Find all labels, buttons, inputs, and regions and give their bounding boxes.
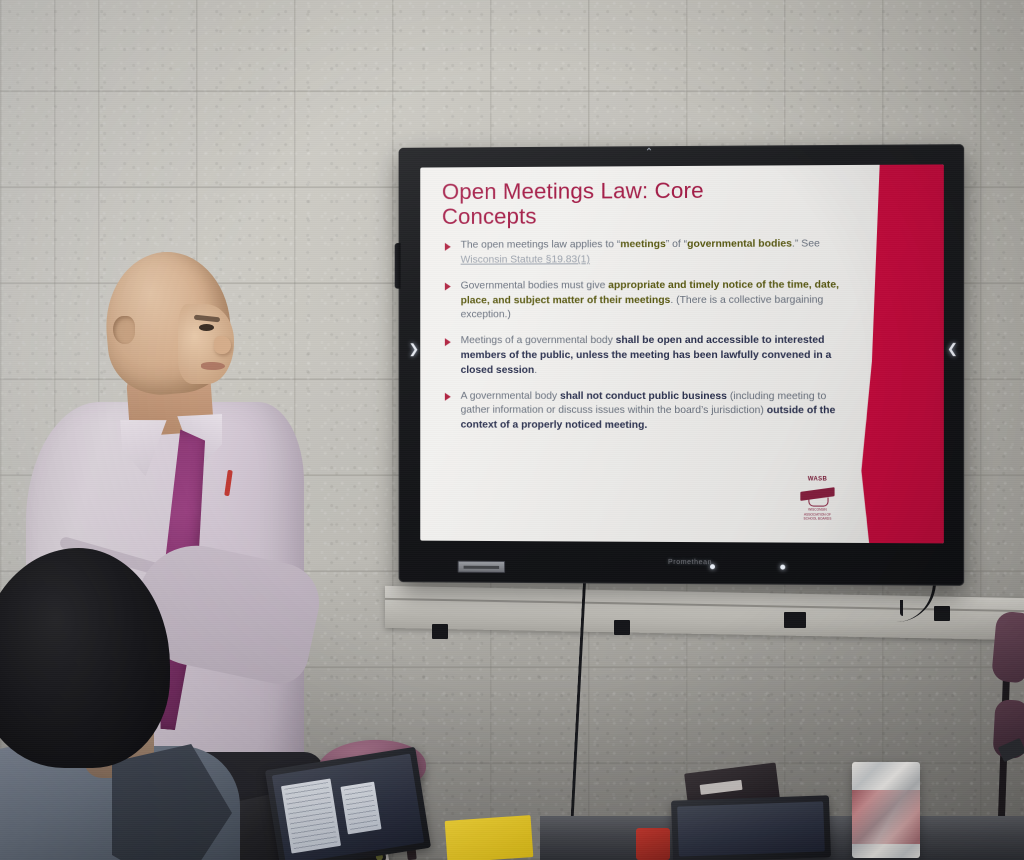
presenter-ear [113,316,135,344]
attendee-figure [0,548,240,860]
display-screen[interactable]: Open Meetings Law: Core Concepts The ope… [420,164,944,543]
slide-bullet-3: Meetings of a governmental body shall be… [442,334,847,379]
slide-bullet-4: A governmental body shall not conduct pu… [442,389,847,434]
document-page-left [281,779,341,854]
document-text-lines [344,785,378,831]
bullet-text: Meetings of a governmental body shall be… [461,335,832,376]
bullet-text: Governmental bodies must give appropriat… [461,279,839,320]
graduation-cap-icon [800,489,834,505]
document-text-lines [284,782,337,850]
laptop-right-screen [677,801,825,856]
bullet-text: A governmental body shall not conduct pu… [461,390,836,431]
presenter-nose [214,336,231,354]
wasb-logo-mark: WASB [794,476,840,482]
slide-bullet-2: Governmental bodies must give appropriat… [442,278,847,323]
bullet-triangle-icon [445,393,451,401]
display-cable-tail [900,600,903,616]
display-spec-plate [458,561,505,573]
bullet-triangle-icon [445,243,451,251]
presenter-eye [199,324,214,331]
shelf-bracket [432,624,448,639]
bullet-text: The open meetings law applies to “meetin… [461,239,820,266]
foil-bag [852,762,920,858]
display-power-led [710,564,715,569]
foil-bag-red-print [852,790,920,844]
powerpoint-slide: Open Meetings Law: Core Concepts The ope… [420,164,944,543]
slide-title: Open Meetings Law: Core Concepts [442,177,847,229]
display-status-led [780,565,785,570]
display-screen-area[interactable]: Open Meetings Law: Core Concepts The ope… [420,164,944,543]
bullet-triangle-icon [445,338,451,346]
shelf-bracket [934,606,950,621]
promethean-interactive-display[interactable]: Open Meetings Law: Core Concepts The ope… [399,144,965,586]
slide-bullet-list: The open meetings law applies to “meetin… [442,238,847,434]
shelf-bracket [614,620,630,635]
display-brand-label: Promethean [668,559,712,566]
presenter-mouth [201,362,225,370]
slide-content: Open Meetings Law: Core Concepts The ope… [442,177,847,535]
bezel-arrow-left-icon[interactable]: ❯ [408,342,417,355]
wasb-logo-subtitle: WISCONSIN ASSOCIATION OF SCHOOL BOARDS [794,507,840,521]
slide-bullet-1: The open meetings law applies to “meetin… [442,238,847,269]
display-side-nub [395,243,401,289]
red-object [636,828,670,860]
shelf-cable-clip [784,612,806,628]
book-label [700,780,743,795]
attendee-hair [0,548,170,768]
bezel-center-notch: ⌃ [642,148,656,157]
bullet-triangle-icon [445,283,451,291]
wasb-logo: WASB WISCONSIN ASSOCIATION OF SCHOOL BOA… [794,476,840,526]
bezel-arrow-right-icon[interactable]: ❮ [947,342,956,355]
document-page-right [340,782,381,835]
chair-right-back [991,611,1024,684]
laptop-right[interactable] [671,795,831,860]
presentation-photo-scene: Open Meetings Law: Core Concepts The ope… [0,0,1024,860]
yellow-folder [445,815,534,860]
